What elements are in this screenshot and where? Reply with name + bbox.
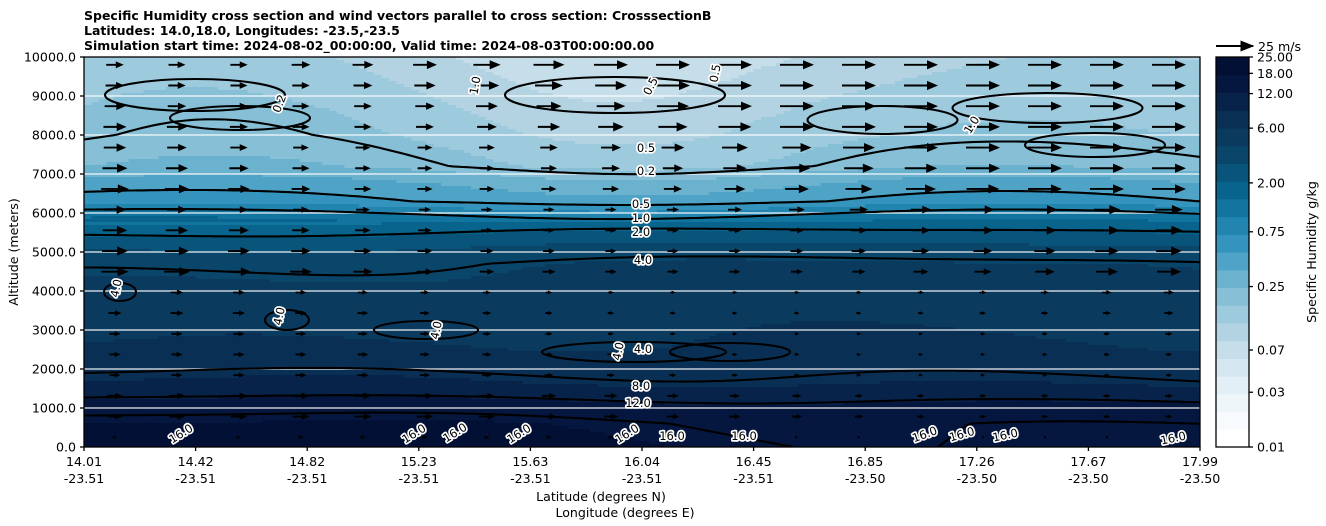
x-tick-label-longitude: -23.51 bbox=[510, 471, 551, 486]
x-axis-title: Latitude (degrees N) bbox=[536, 489, 666, 504]
colorbar-tick-label: 0.25 bbox=[1257, 279, 1285, 294]
contour-label: 0.50.5 bbox=[632, 197, 650, 211]
colorbar-tick-label: 6.00 bbox=[1257, 121, 1285, 136]
contour-label: 1.01.0 bbox=[632, 211, 650, 225]
svg-text:0.2: 0.2 bbox=[637, 164, 655, 178]
y-axis-ticks: 0.01000.02000.03000.04000.05000.06000.07… bbox=[24, 49, 84, 454]
x-tick-label-longitude: -23.51 bbox=[287, 471, 328, 486]
svg-text:1.0: 1.0 bbox=[632, 211, 650, 225]
y-axis-title: Altitude (meters) bbox=[6, 198, 21, 305]
y-tick-label: 1000.0 bbox=[32, 400, 76, 415]
colorbar-tick-label: 12.00 bbox=[1257, 86, 1293, 101]
x-tick-label-latitude: 15.63 bbox=[512, 454, 548, 469]
x-tick-label-longitude: -23.50 bbox=[956, 471, 997, 486]
svg-text:2.0: 2.0 bbox=[632, 225, 650, 239]
colorbar-title: Specific Humidity g/kg bbox=[1304, 181, 1319, 323]
svg-text:0.5: 0.5 bbox=[632, 197, 650, 211]
x-tick-label-latitude: 14.42 bbox=[178, 454, 214, 469]
reference-vector-label: 25 m/s bbox=[1258, 39, 1301, 54]
contour-label: 16.016.0 bbox=[731, 429, 757, 443]
contour-label: 0.50.5 bbox=[637, 141, 655, 155]
x-tick-label-latitude: 15.23 bbox=[401, 454, 437, 469]
y-tick-label: 9000.0 bbox=[32, 88, 76, 103]
x-tick-label-latitude: 14.01 bbox=[66, 454, 102, 469]
y-tick-label: 3000.0 bbox=[32, 322, 76, 337]
contour-label: 2.02.0 bbox=[632, 225, 650, 239]
x-tick-label-latitude: 17.99 bbox=[1182, 454, 1218, 469]
contour-label: 16.016.0 bbox=[659, 429, 685, 443]
svg-text:0.5: 0.5 bbox=[637, 141, 655, 155]
contour-label: 8.08.0 bbox=[632, 379, 650, 393]
svg-text:16.0: 16.0 bbox=[731, 429, 757, 443]
x-tick-label-latitude: 16.85 bbox=[847, 454, 883, 469]
x-tick-label-latitude: 17.26 bbox=[959, 454, 995, 469]
contour-label: 12.012.0 bbox=[625, 396, 651, 410]
figure-canvas: Specific Humidity cross section and wind… bbox=[0, 0, 1326, 526]
svg-text:12.0: 12.0 bbox=[625, 396, 651, 410]
y-tick-label: 5000.0 bbox=[32, 244, 76, 259]
x-tick-label-latitude: 16.04 bbox=[624, 454, 660, 469]
y-tick-label: 6000.0 bbox=[32, 205, 76, 220]
colorbar-tick-label: 0.01 bbox=[1257, 439, 1285, 454]
x-tick-label-latitude: 17.67 bbox=[1070, 454, 1106, 469]
svg-text:8.0: 8.0 bbox=[632, 379, 650, 393]
x-tick-label-longitude: -23.51 bbox=[175, 471, 216, 486]
x-tick-label-latitude: 16.45 bbox=[736, 454, 772, 469]
contour-label: 0.20.2 bbox=[637, 164, 655, 178]
x-tick-label-longitude: -23.51 bbox=[398, 471, 439, 486]
x-axis-ticks: 14.01-23.5114.42-23.5114.82-23.5115.23-2… bbox=[64, 447, 1221, 486]
colorbar-tick-label: 0.07 bbox=[1257, 342, 1285, 357]
y-tick-label: 0.0 bbox=[56, 439, 76, 454]
x-axis-title-secondary: Longitude (degrees E) bbox=[555, 505, 694, 520]
cross-section-plot: 0.20.21.01.00.50.50.50.51.01.00.50.50.20… bbox=[0, 0, 1326, 526]
colorbar-tick-label: 0.75 bbox=[1257, 224, 1285, 239]
y-tick-label: 4000.0 bbox=[32, 283, 76, 298]
x-tick-label-longitude: -23.51 bbox=[622, 471, 663, 486]
svg-text:4.0: 4.0 bbox=[634, 253, 652, 267]
y-tick-label: 10000.0 bbox=[24, 49, 76, 64]
svg-text:4.0: 4.0 bbox=[634, 342, 652, 356]
y-tick-label: 7000.0 bbox=[32, 166, 76, 181]
x-tick-label-longitude: -23.50 bbox=[845, 471, 886, 486]
x-tick-label-latitude: 14.82 bbox=[289, 454, 325, 469]
svg-text:16.0: 16.0 bbox=[659, 429, 685, 443]
x-tick-label-longitude: -23.50 bbox=[1068, 471, 1109, 486]
colorbar-tick-label: 18.00 bbox=[1257, 66, 1293, 81]
contour-label: 4.04.0 bbox=[634, 253, 652, 267]
x-tick-label-longitude: -23.51 bbox=[64, 471, 105, 486]
x-tick-label-longitude: -23.51 bbox=[733, 471, 774, 486]
contour-label: 4.04.0 bbox=[634, 342, 652, 356]
x-tick-label-longitude: -23.50 bbox=[1180, 471, 1221, 486]
y-tick-label: 8000.0 bbox=[32, 127, 76, 142]
colorbar-tick-label: 0.03 bbox=[1257, 385, 1285, 400]
y-tick-label: 2000.0 bbox=[32, 361, 76, 376]
colorbar-tick-label: 2.00 bbox=[1257, 175, 1285, 190]
colorbar: 0.010.030.070.250.752.006.0012.0018.0025… bbox=[1216, 49, 1293, 454]
